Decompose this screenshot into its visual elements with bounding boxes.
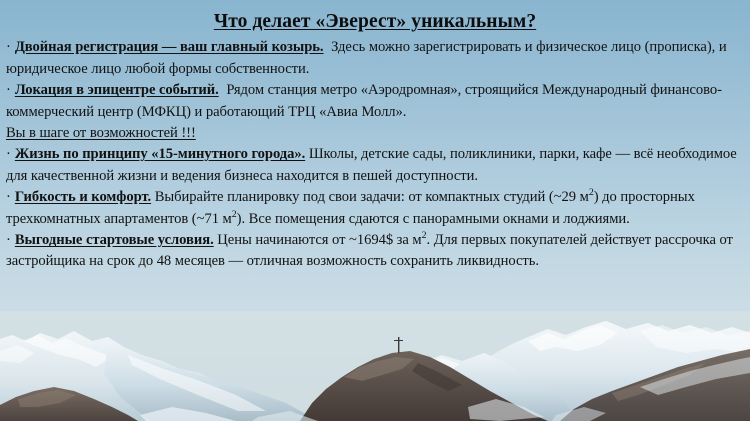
bullet-flexibility-comfort: ·Гибкость и комфорт. Выбирайте планировк… (0, 187, 750, 229)
slide-text-content: Что делает «Эверест» уникальным? ·Двойна… (0, 0, 750, 273)
slide-canvas: Что делает «Эверест» уникальным? ·Двойна… (0, 0, 750, 421)
bullet-marker: · (6, 82, 11, 98)
bullet-marker: · (6, 146, 11, 162)
bullet-marker: · (6, 189, 11, 205)
bullet-lead-flexibility-comfort: Гибкость и комфорт. (15, 189, 151, 205)
location-note: Вы в шаге от возможностей !!! (0, 123, 750, 144)
bullet-lead-location: Локация в эпицентре событий. (15, 82, 219, 98)
bullet-marker: · (6, 39, 11, 55)
bullet-body-flexibility-c: ). Все помещения сдаются с панорамными о… (237, 211, 630, 227)
bullet-starting-conditions: ·Выгодные стартовые условия. Цены начина… (0, 230, 750, 272)
location-note-text: Вы в шаге от возможностей !!! (6, 125, 196, 141)
bullet-lead-dual-registration: Двойная регистрация — ваш главный козырь… (15, 39, 324, 55)
bullet-lead-starting-conditions: Выгодные стартовые условия. (15, 232, 214, 248)
bullet-fifteen-minute-city: ·Жизнь по принципу «15-минутного города»… (0, 144, 750, 186)
bullet-marker: · (6, 232, 11, 248)
page-title: Что делает «Эверест» уникальным? (0, 11, 750, 33)
bullet-lead-fifteen-minute-city: Жизнь по принципу «15-минутного города». (15, 146, 305, 162)
bullet-dual-registration: ·Двойная регистрация — ваш главный козыр… (0, 37, 750, 79)
mountain-photo (0, 311, 750, 421)
bullet-location: ·Локация в эпицентре событий. Рядом стан… (0, 80, 750, 122)
bullet-body-starting-a: Цены начинаются от ~1694$ за м (217, 232, 421, 248)
bullet-body-flexibility-a: Выбирайте планировку под свои задачи: от… (155, 189, 589, 205)
